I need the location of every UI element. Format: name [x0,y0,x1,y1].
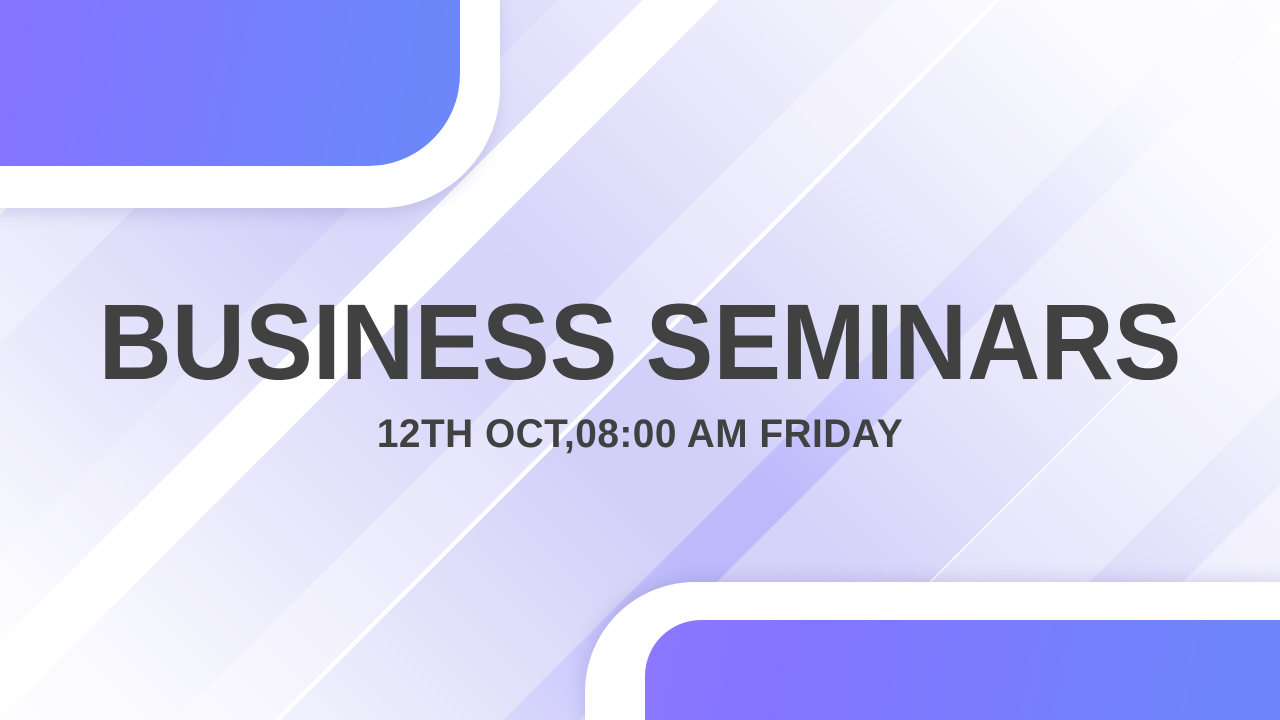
top-left-gradient-banner [0,0,460,166]
headline-block: BUSINESS SEMINARS 12TH OCT,08:00 AM FRID… [0,286,1280,456]
page-title: BUSINESS SEMINARS [38,286,1241,398]
event-datetime: 12TH OCT,08:00 AM FRIDAY [19,412,1261,456]
bottom-right-gradient-banner [645,620,1280,720]
event-poster: BUSINESS SEMINARS 12TH OCT,08:00 AM FRID… [0,0,1280,720]
